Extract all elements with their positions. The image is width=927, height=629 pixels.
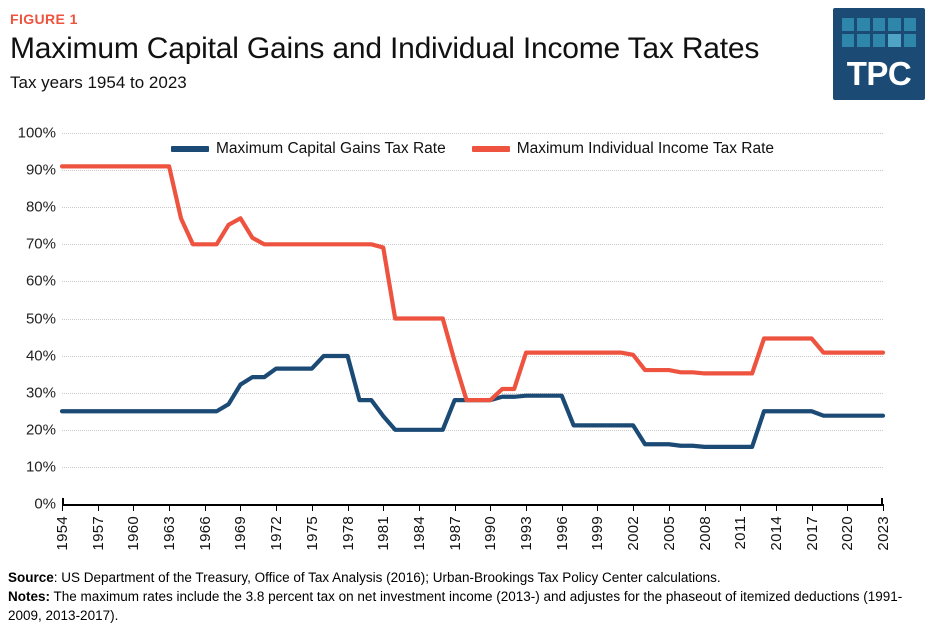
legend-item-capital-gains[interactable]: Maximum Capital Gains Tax Rate xyxy=(171,140,446,158)
legend-swatch-capital-gains xyxy=(171,146,209,152)
page-title: Maximum Capital Gains and Individual Inc… xyxy=(10,31,919,67)
x-axis-tick xyxy=(383,504,384,511)
logo-cell xyxy=(842,34,854,47)
x-axis-tick-label: 1999 xyxy=(589,516,606,551)
x-axis-tick-label: 1975 xyxy=(304,516,321,551)
data-series-svg xyxy=(62,133,883,504)
logo-cell xyxy=(873,34,885,47)
y-axis-tick-label: 40% xyxy=(26,347,56,364)
y-axis-tick-label: 70% xyxy=(26,236,56,253)
x-axis-tick-label: 1993 xyxy=(518,516,535,551)
x-axis-tick-label: 1978 xyxy=(340,516,357,551)
figure-page: FIGURE 1 Maximum Capital Gains and Indiv… xyxy=(0,0,927,629)
x-axis-tick xyxy=(776,504,777,511)
y-axis-tick-label: 0% xyxy=(34,496,56,513)
x-axis-tick-label: 1954 xyxy=(54,516,71,551)
x-axis-tick xyxy=(740,504,741,511)
plot-area xyxy=(62,133,883,504)
y-axis-tick-label: 80% xyxy=(26,199,56,216)
x-axis-tick xyxy=(597,504,598,511)
x-axis-tick-label: 1963 xyxy=(161,516,178,551)
logo-cell xyxy=(888,18,900,31)
logo-cell xyxy=(904,34,916,47)
notes-text: The maximum rates include the 3.8 percen… xyxy=(8,589,902,623)
x-axis-tick-label: 2008 xyxy=(697,516,714,551)
x-axis-tick xyxy=(312,504,313,511)
x-axis-tick xyxy=(419,504,420,511)
x-axis-tick-label: 1960 xyxy=(125,516,142,551)
chart-subtitle: Tax years 1954 to 2023 xyxy=(10,72,919,94)
y-axis-tick-label: 50% xyxy=(26,310,56,327)
x-axis-tick xyxy=(562,504,563,511)
logo-cell xyxy=(888,34,900,47)
x-axis-tick-label: 1981 xyxy=(375,516,392,551)
logo-cell xyxy=(842,18,854,31)
x-axis-tick xyxy=(669,504,670,511)
x-axis-tick xyxy=(847,504,848,511)
x-axis-tick xyxy=(526,504,527,511)
y-axis-tick-label: 10% xyxy=(26,458,56,475)
legend-swatch-individual-income xyxy=(472,146,510,152)
y-axis-tick-label: 100% xyxy=(18,125,56,142)
x-axis-tick-label: 1966 xyxy=(197,516,214,551)
x-axis-tick-label: 1984 xyxy=(411,516,428,551)
y-axis-labels: 0%10%20%30%40%50%60%70%80%90%100% xyxy=(0,133,56,504)
y-axis-tick-label: 60% xyxy=(26,273,56,290)
source-text: : US Department of the Treasury, Office … xyxy=(54,570,721,585)
x-axis-tick-label: 2017 xyxy=(804,516,821,551)
y-axis-tick-label: 90% xyxy=(26,162,56,179)
footnotes: Source: US Department of the Treasury, O… xyxy=(8,568,915,625)
x-axis-tick xyxy=(62,504,63,511)
x-axis-tick xyxy=(276,504,277,511)
x-axis-tick-label: 1972 xyxy=(268,516,285,551)
tpc-logo: TPC xyxy=(833,8,925,100)
chart-legend: Maximum Capital Gains Tax Rate Maximum I… xyxy=(62,140,883,158)
x-axis-tick xyxy=(169,504,170,511)
figure-number-label: FIGURE 1 xyxy=(10,11,919,27)
x-axis-tick xyxy=(812,504,813,511)
x-axis-tick xyxy=(133,504,134,511)
x-axis-tick xyxy=(883,504,884,511)
x-axis-tick-label: 1957 xyxy=(90,516,107,551)
series-line-individual-income xyxy=(62,166,883,400)
x-axis-tick xyxy=(705,504,706,511)
legend-item-individual-income[interactable]: Maximum Individual Income Tax Rate xyxy=(472,140,774,158)
logo-cell xyxy=(904,18,916,31)
x-axis-tick xyxy=(98,504,99,511)
x-axis-tick xyxy=(455,504,456,511)
x-axis-line xyxy=(62,504,883,506)
legend-label-capital-gains: Maximum Capital Gains Tax Rate xyxy=(216,140,446,158)
x-axis-tick-label: 1987 xyxy=(447,516,464,551)
x-axis-tick-label: 2014 xyxy=(768,516,785,551)
x-axis-tick-label: 1996 xyxy=(554,516,571,551)
y-axis-tick-label: 30% xyxy=(26,384,56,401)
x-axis-tick-label: 1969 xyxy=(232,516,249,551)
logo-cell xyxy=(873,18,885,31)
x-axis-tick-label: 2005 xyxy=(661,516,678,551)
y-axis-tick-label: 20% xyxy=(26,421,56,438)
logo-grid xyxy=(842,18,916,47)
x-axis-tick xyxy=(490,504,491,511)
chart-header: FIGURE 1 Maximum Capital Gains and Indiv… xyxy=(8,8,919,116)
chart-container: 0%10%20%30%40%50%60%70%80%90%100% 195419… xyxy=(0,118,927,563)
notes-label: Notes: xyxy=(8,589,50,604)
x-axis-tick-label: 2002 xyxy=(625,516,642,551)
x-axis-tick xyxy=(633,504,634,511)
notes-line: Notes: The maximum rates include the 3.8… xyxy=(8,587,915,625)
x-axis-tick-label: 1990 xyxy=(482,516,499,551)
x-axis-tick xyxy=(348,504,349,511)
x-axis-tick xyxy=(205,504,206,511)
source-label: Source xyxy=(8,570,54,585)
logo-cell xyxy=(857,18,869,31)
x-axis-tick xyxy=(240,504,241,511)
x-axis-tick-label: 2020 xyxy=(839,516,856,551)
logo-text: TPC xyxy=(833,56,925,92)
logo-cell xyxy=(857,34,869,47)
source-line: Source: US Department of the Treasury, O… xyxy=(8,568,915,587)
x-axis-tick-label: 2011 xyxy=(732,516,749,549)
legend-label-individual-income: Maximum Individual Income Tax Rate xyxy=(517,140,774,158)
x-axis-tick-label: 2023 xyxy=(875,516,892,551)
